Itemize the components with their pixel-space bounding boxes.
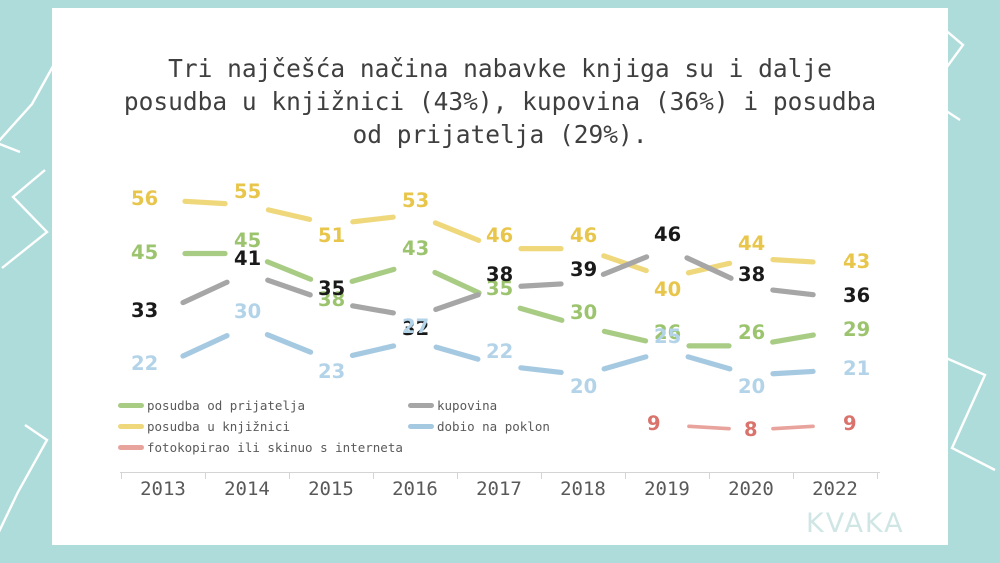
data-label: 38 [738, 265, 765, 285]
x-axis-label: 2016 [373, 478, 457, 500]
data-label: 20 [738, 377, 765, 397]
data-label: 35 [318, 279, 345, 299]
x-axis-line [120, 472, 880, 473]
series-segment [689, 426, 729, 428]
data-label: 55 [234, 182, 261, 202]
data-label: 53 [402, 191, 429, 211]
legend-item[interactable]: kupovina [408, 398, 497, 413]
series-segment [773, 426, 813, 428]
data-label: 46 [486, 226, 513, 246]
series-segment [773, 260, 813, 262]
series-segment [604, 331, 645, 341]
x-axis-label: 2018 [541, 478, 625, 500]
x-axis-label: 2015 [289, 478, 373, 500]
legend-swatch-icon [118, 403, 144, 408]
legend-swatch-icon [118, 424, 144, 429]
legend-item[interactable]: dobio na poklon [408, 419, 550, 434]
data-label: 45 [131, 243, 158, 263]
x-axis-label: 2019 [625, 478, 709, 500]
x-axis-label: 2022 [793, 478, 877, 500]
data-label: 39 [570, 260, 597, 280]
legend-label: fotokopirao ili skinuo s interneta [147, 440, 403, 455]
series-segment [521, 368, 561, 373]
series-segment [435, 223, 478, 241]
series-segment [183, 282, 227, 302]
data-label: 9 [843, 414, 857, 434]
series-segment [352, 269, 394, 281]
legend-item[interactable]: posudba u knjižnici [118, 419, 290, 434]
legend-label: posudba u knjižnici [147, 419, 290, 434]
slide: Tri najčešća načina nabavke knjiga su i … [0, 0, 1000, 563]
legend-item[interactable]: posudba od prijatelja [118, 398, 305, 413]
legend-label: dobio na poklon [437, 419, 550, 434]
data-label: 27 [402, 317, 429, 337]
data-label: 30 [570, 303, 597, 323]
chart-legend: posudba od prijateljakupovinaposudba u k… [118, 398, 588, 458]
legend-item[interactable]: fotokopirao ili skinuo s interneta [118, 440, 403, 455]
x-axis-label: 2020 [709, 478, 793, 500]
x-axis-label: 2014 [205, 478, 289, 500]
legend-swatch-icon [118, 445, 144, 450]
data-label: 29 [843, 320, 870, 340]
legend-swatch-icon [408, 403, 434, 408]
data-label: 33 [131, 301, 158, 321]
series-segment [267, 335, 310, 353]
data-label: 40 [654, 280, 681, 300]
data-label: 8 [744, 420, 758, 440]
legend-label: kupovina [437, 398, 497, 413]
data-label: 38 [486, 265, 513, 285]
x-axis-label: 2017 [457, 478, 541, 500]
data-label: 23 [318, 362, 345, 382]
series-segment [352, 346, 393, 356]
data-label: 46 [570, 226, 597, 246]
series-segment [353, 217, 393, 222]
data-label: 21 [843, 359, 870, 379]
data-label: 43 [843, 252, 870, 272]
series-segment [604, 357, 646, 369]
series-segment [773, 371, 813, 373]
data-label: 22 [486, 342, 513, 362]
data-label: 56 [131, 189, 158, 209]
series-segment [185, 201, 225, 203]
series-segment [520, 308, 562, 320]
data-label: 30 [234, 302, 261, 322]
data-label: 36 [843, 286, 870, 306]
x-axis-tick [877, 473, 878, 479]
data-label: 43 [402, 239, 429, 259]
series-segment [183, 336, 227, 356]
series-segment [436, 347, 478, 359]
series-segment [687, 258, 731, 278]
chart-area: Tri najčešća načina nabavke knjiga su i … [0, 0, 1000, 563]
data-label: 20 [570, 377, 597, 397]
data-label: 44 [738, 234, 765, 254]
series-segment [773, 290, 813, 295]
data-label: 9 [647, 414, 661, 434]
series-segment [773, 335, 814, 342]
data-label: 22 [131, 354, 158, 374]
series-segment [688, 357, 730, 369]
series-segment [268, 210, 309, 220]
data-label: 51 [318, 226, 345, 246]
data-label: 41 [234, 249, 261, 269]
data-label: 46 [654, 225, 681, 245]
data-label: 25 [654, 327, 681, 347]
data-label: 26 [738, 323, 765, 343]
series-segment [267, 262, 310, 280]
legend-label: posudba od prijatelja [147, 398, 305, 413]
series-segment [521, 284, 561, 286]
kvaka-logo: KVAKA [806, 508, 905, 539]
x-axis-label: 2013 [121, 478, 205, 500]
series-segment [353, 306, 394, 313]
series-segment [436, 295, 478, 310]
legend-swatch-icon [408, 424, 434, 429]
series-segment [268, 280, 310, 295]
series-segment [435, 272, 479, 292]
